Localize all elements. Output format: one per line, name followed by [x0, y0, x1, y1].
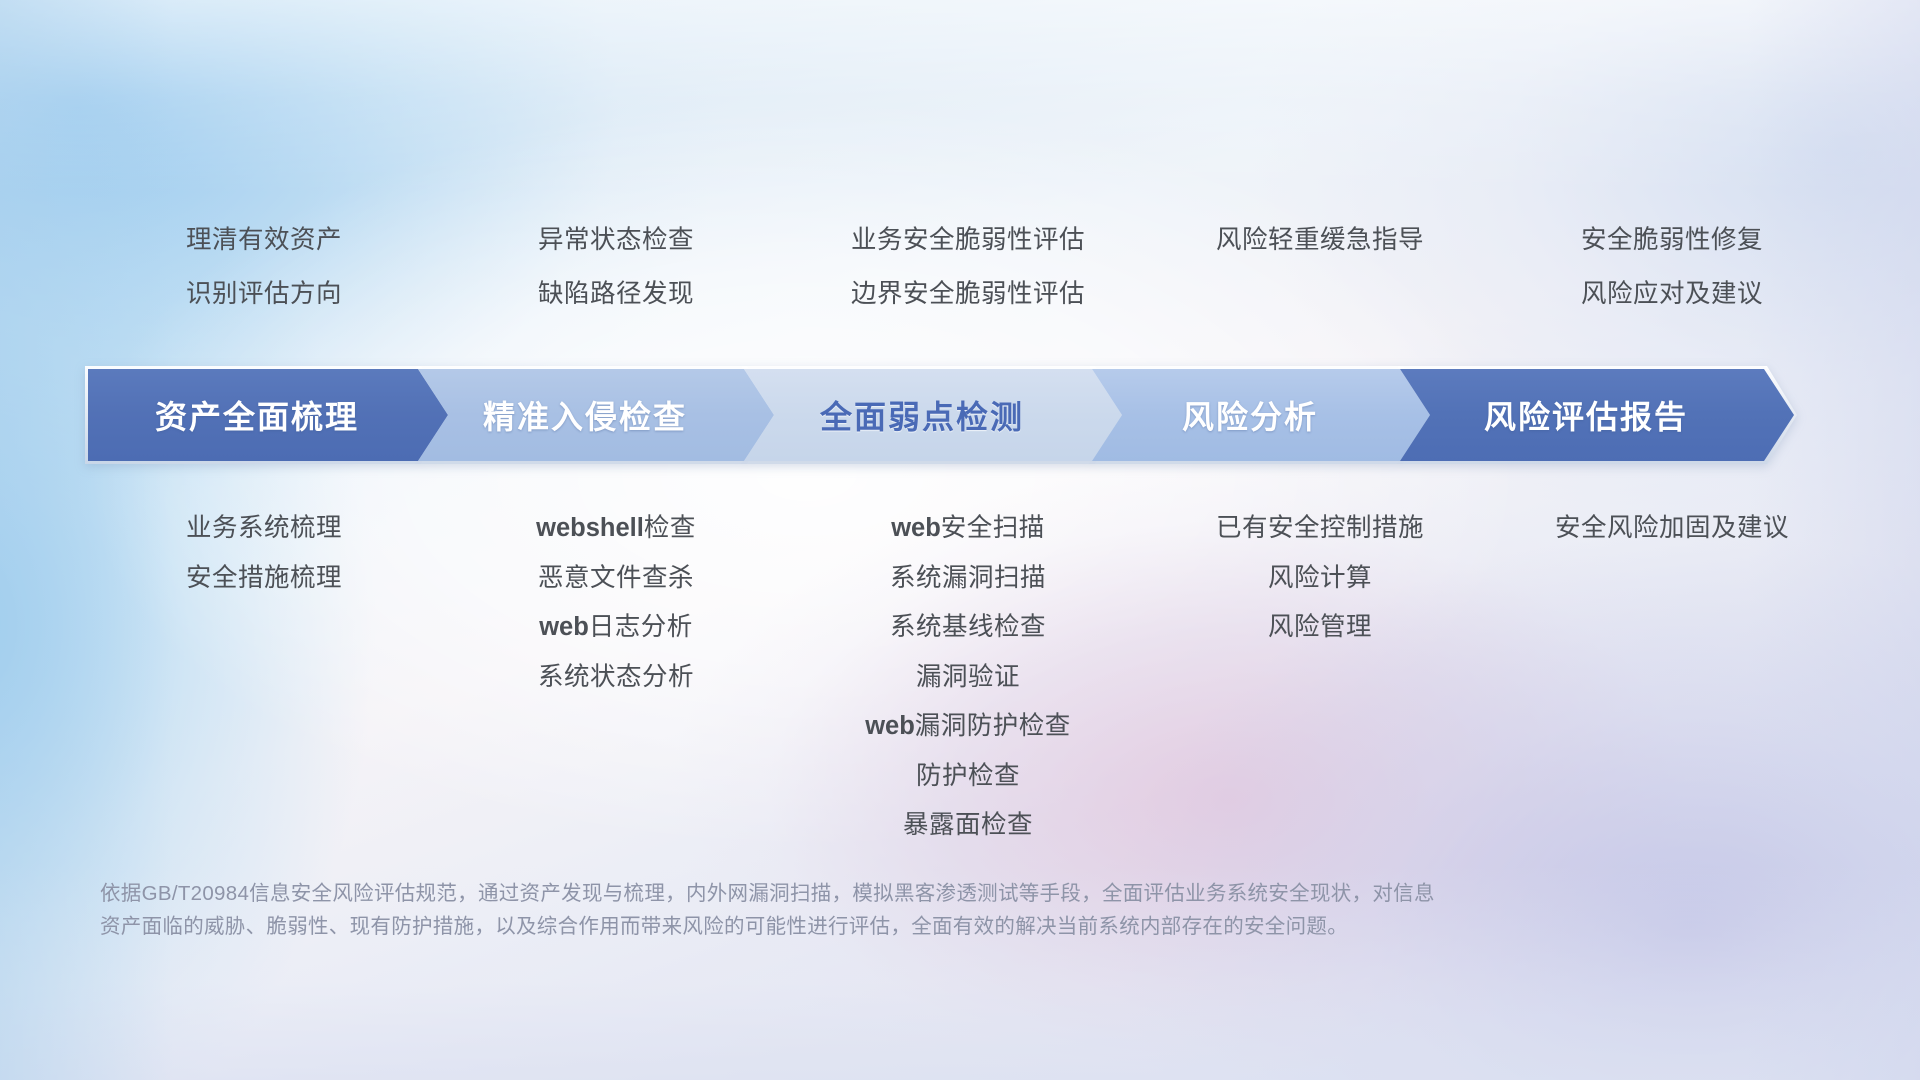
bottom-label-item: 暴露面检查: [903, 813, 1033, 839]
bottom-label-row: 业务系统梳理安全措施梳理 webshell检查恶意文件查杀web日志分析系统状态…: [88, 516, 1848, 863]
footer-description: 依据GB/T20984信息安全风险评估规范，通过资产发现与梳理，内外网漏洞扫描，…: [100, 877, 1620, 943]
bottom-label-item: web安全扫描: [891, 516, 1045, 542]
top-labels-weakness-detection: 业务安全脆弱性评估 边界安全脆弱性评估: [792, 228, 1144, 335]
stage-label: 精准入侵检查: [483, 392, 709, 438]
bottom-labels-weakness-detection: web安全扫描系统漏洞扫描系统基线检查漏洞验证web漏洞防护检查防护检查暴露面检…: [792, 516, 1144, 863]
bottom-label-item: 系统漏洞扫描: [890, 566, 1046, 592]
bottom-label-item: web日志分析: [539, 615, 693, 641]
bottom-label-latin: web: [865, 712, 915, 740]
bottom-label-item: 防护检查: [916, 764, 1020, 790]
bottom-label-latin: web: [891, 514, 941, 542]
top-label-item: 边界安全脆弱性评估: [851, 282, 1085, 308]
top-labels-assessment-report: 安全脆弱性修复 风险应对及建议: [1496, 228, 1848, 335]
top-label-item: 识别评估方向: [186, 282, 342, 308]
stage-arrow-asset-inventory[interactable]: 资产全面梳理: [88, 369, 448, 461]
top-labels-risk-analysis: 风险轻重缓急指导: [1144, 228, 1496, 335]
stage-label: 全面弱点检测: [820, 392, 1046, 438]
stage-arrow-intrusion-check[interactable]: 精准入侵检查: [418, 369, 774, 461]
footer-line: 依据GB/T20984信息安全风险评估规范，通过资产发现与梳理，内外网漏洞扫描，…: [100, 877, 1620, 910]
bottom-label-item: 已有安全控制措施: [1216, 516, 1424, 542]
bottom-labels-intrusion-check: webshell检查恶意文件查杀web日志分析系统状态分析: [440, 516, 792, 863]
top-label-row: 理清有效资产 识别评估方向 异常状态检查 缺陷路径发现 业务安全脆弱性评估 边界…: [88, 228, 1848, 335]
stage-arrow-risk-analysis[interactable]: 风险分析: [1092, 369, 1430, 461]
top-label-item: 理清有效资产: [186, 228, 342, 254]
stage-label: 风险评估报告: [1484, 392, 1710, 438]
top-label-item: 缺陷路径发现: [538, 282, 694, 308]
stage-label: 资产全面梳理: [155, 392, 381, 438]
bottom-label-item: 安全措施梳理: [186, 566, 342, 592]
bottom-labels-risk-analysis: 已有安全控制措施风险计算风险管理: [1144, 516, 1496, 863]
stage-label: 风险分析: [1182, 392, 1340, 438]
top-label-item: 安全脆弱性修复: [1581, 228, 1763, 254]
stage-arrow-assessment-report[interactable]: 风险评估报告: [1400, 369, 1794, 461]
bottom-label-latin: web: [539, 613, 589, 641]
bottom-label-item: 系统状态分析: [538, 665, 694, 691]
top-label-item: 风险应对及建议: [1581, 282, 1763, 308]
bottom-label-latin: webshell: [536, 514, 644, 542]
top-labels-asset-inventory: 理清有效资产 识别评估方向: [88, 228, 440, 335]
top-labels-intrusion-check: 异常状态检查 缺陷路径发现: [440, 228, 792, 335]
bottom-label-item: web漏洞防护检查: [865, 714, 1071, 740]
bottom-label-item: 业务系统梳理: [186, 516, 342, 542]
bottom-label-item: 漏洞验证: [916, 665, 1020, 691]
bottom-label-item: webshell检查: [536, 516, 696, 542]
top-label-item: 异常状态检查: [538, 228, 694, 254]
top-label-item: 业务安全脆弱性评估: [851, 228, 1085, 254]
top-label-item: 风险轻重缓急指导: [1216, 228, 1424, 254]
stage-arrow-weakness-detection[interactable]: 全面弱点检测: [744, 369, 1122, 461]
bottom-label-item: 风险管理: [1268, 615, 1372, 641]
bottom-labels-assessment-report: 安全风险加固及建议: [1496, 516, 1848, 863]
process-arrow-banner: 资产全面梳理 精准入侵检查 全面弱点检测 风险分析 风险评估报告: [88, 369, 1854, 461]
slide-canvas: 理清有效资产 识别评估方向 异常状态检查 缺陷路径发现 业务安全脆弱性评估 边界…: [0, 0, 1920, 1080]
bottom-labels-asset-inventory: 业务系统梳理安全措施梳理: [88, 516, 440, 863]
bottom-label-item: 风险计算: [1268, 566, 1372, 592]
bottom-label-item: 系统基线检查: [890, 615, 1046, 641]
bottom-label-item: 恶意文件查杀: [538, 566, 694, 592]
bottom-label-item: 安全风险加固及建议: [1555, 516, 1789, 542]
footer-line: 资产面临的威胁、脆弱性、现有防护措施，以及综合作用而带来风险的可能性进行评估，全…: [100, 910, 1620, 943]
